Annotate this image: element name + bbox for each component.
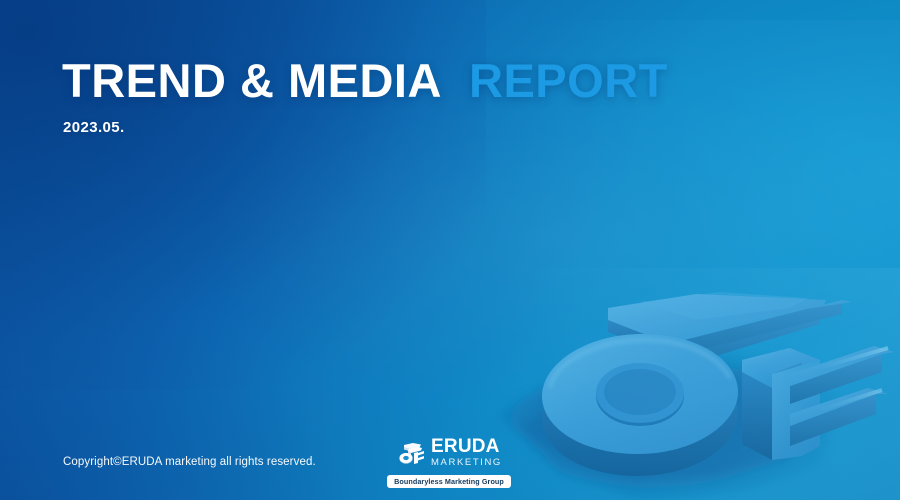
brand-name: ERUDA — [431, 437, 502, 456]
page-title: TREND & MEDIA REPORT — [62, 57, 668, 104]
brand-subname: MARKETING — [431, 458, 502, 468]
report-date: 2023.05. — [63, 120, 125, 135]
copyright-notice: Copyright©ERUDA marketing all rights res… — [63, 457, 316, 469]
brand-logo-row: ERUDA MARKETING — [396, 436, 502, 470]
page-title-primary: TREND & MEDIA — [62, 54, 442, 107]
brand-logo: ERUDA MARKETING Boundaryless Marketing G… — [389, 436, 509, 489]
brand-logo-words: ERUDA MARKETING — [431, 437, 502, 468]
eruda-3d-monogram-icon — [396, 438, 426, 468]
title-slide: TREND & MEDIA REPORT 2023.05. Copyright©… — [0, 0, 900, 500]
page-title-accent: REPORT — [469, 54, 668, 107]
brand-tagline: Boundaryless Marketing Group — [387, 475, 511, 489]
